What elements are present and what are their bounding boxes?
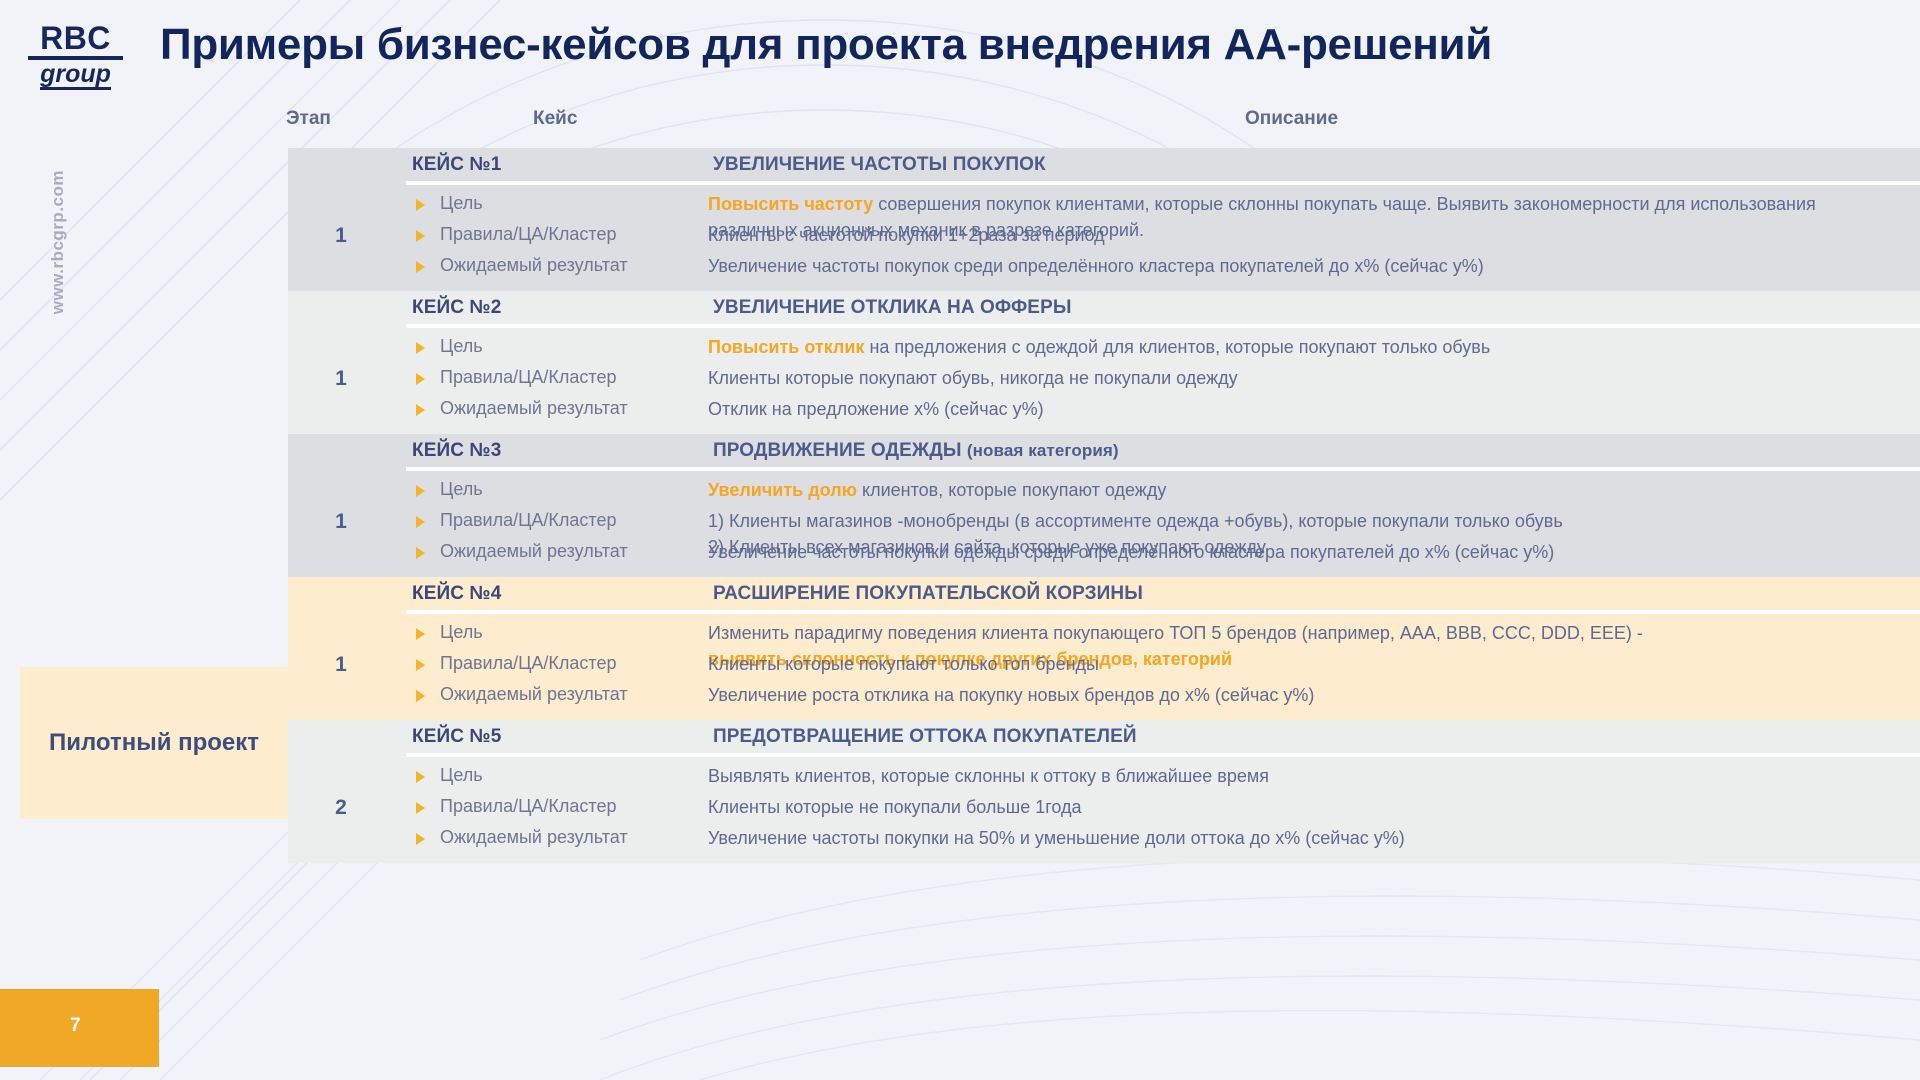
page-number-badge: 7: [0, 989, 159, 1067]
row-rules: Правила/ЦА/КластерКлиенты которые не пок…: [288, 793, 1920, 824]
case-title-row: КЕЙС №3ПРОДВИЖЕНИЕ ОДЕЖДЫ (новая категор…: [288, 434, 1920, 467]
row-result: Ожидаемый результатУвеличение частоты по…: [288, 538, 1920, 569]
bullet-arrow-icon: [416, 199, 425, 211]
bullet-arrow-icon: [416, 547, 425, 559]
case-rows: 1ЦельПовысить отклик на предложения с од…: [288, 328, 1920, 434]
case-block: КЕЙС №1УВЕЛИЧЕНИЕ ЧАСТОТЫ ПОКУПОК1ЦельПо…: [288, 148, 1920, 291]
row-text: Клиенты которые покупают только топ брен…: [708, 652, 1908, 678]
row-result: Ожидаемый результатУвеличение частоты по…: [288, 824, 1920, 855]
rbc-group-logo: RBC group: [28, 22, 123, 90]
bullet-arrow-icon: [416, 342, 425, 354]
row-text: Выявлять клиентов, которые склонны к отт…: [708, 764, 1908, 790]
row-label: Цель: [440, 193, 483, 214]
row-text: Увеличение частоты покупки одежды среди …: [708, 540, 1908, 566]
column-header-case: Кейс: [533, 108, 577, 130]
row-result: Ожидаемый результатУвеличение роста откл…: [288, 681, 1920, 712]
row-text: Клиенты с частотой покупки 1+2раза за пе…: [708, 223, 1908, 249]
case-name: УВЕЛИЧЕНИЕ ОТКЛИКА НА ОФФЕРЫ: [713, 297, 1072, 319]
case-number: КЕЙС №4: [412, 583, 501, 605]
row-label: Правила/ЦА/Кластер: [440, 510, 616, 531]
row-label: Ожидаемый результат: [440, 541, 628, 562]
row-text: Отклик на предложение x% (сейчас y%): [708, 397, 1908, 423]
row-goal: ЦельУвеличить долю клиентов, которые пок…: [288, 476, 1920, 507]
logo-group-text: group: [40, 61, 111, 90]
bullet-arrow-icon: [416, 373, 425, 385]
case-title-row: КЕЙС №1УВЕЛИЧЕНИЕ ЧАСТОТЫ ПОКУПОК: [288, 148, 1920, 181]
case-number: КЕЙС №1: [412, 154, 501, 176]
row-goal: ЦельПовысить частоту совершения покупок …: [288, 190, 1920, 221]
case-title-row: КЕЙС №2УВЕЛИЧЕНИЕ ОТКЛИКА НА ОФФЕРЫ: [288, 291, 1920, 324]
logo-rbc-text: RBC: [28, 22, 123, 60]
bullet-arrow-icon: [416, 771, 425, 783]
bullet-arrow-icon: [416, 690, 425, 702]
row-label: Ожидаемый результат: [440, 684, 628, 705]
case-rows: 1ЦельУвеличить долю клиентов, которые по…: [288, 471, 1920, 577]
case-block: КЕЙС №3ПРОДВИЖЕНИЕ ОДЕЖДЫ (новая категор…: [288, 434, 1920, 577]
row-text: Клиенты которые не покупали больше 1года: [708, 795, 1908, 821]
row-text: Клиенты которые покупают обувь, никогда …: [708, 366, 1908, 392]
case-title-row: КЕЙС №4РАСШИРЕНИЕ ПОКУПАТЕЛЬСКОЙ КОРЗИНЫ: [288, 577, 1920, 610]
row-label: Цель: [440, 336, 483, 357]
row-label: Ожидаемый результат: [440, 255, 628, 276]
row-goal: ЦельВыявлять клиентов, которые склонны к…: [288, 762, 1920, 793]
row-label: Правила/ЦА/Кластер: [440, 367, 616, 388]
pilot-project-label: Пилотный проект: [49, 729, 259, 757]
case-name-subtitle: (новая категория): [967, 441, 1119, 460]
pilot-project-banner: Пилотный проект: [20, 667, 288, 819]
row-rules: Правила/ЦА/КластерКлиенты которые покупа…: [288, 650, 1920, 681]
bullet-arrow-icon: [416, 833, 425, 845]
bullet-arrow-icon: [416, 516, 425, 528]
case-rows: 1ЦельИзменить парадигму поведения клиент…: [288, 614, 1920, 720]
row-text: Увеличение частоты покупок среди определ…: [708, 254, 1908, 280]
row-label: Цель: [440, 622, 483, 643]
row-result: Ожидаемый результатОтклик на предложение…: [288, 395, 1920, 426]
case-name: ПРЕДОТВРАЩЕНИЕ ОТТОКА ПОКУПАТЕЛЕЙ: [713, 726, 1137, 748]
row-text: Повысить отклик на предложения с одеждой…: [708, 335, 1908, 361]
row-result: Ожидаемый результатУвеличение частоты по…: [288, 252, 1920, 283]
row-label: Правила/ЦА/Кластер: [440, 796, 616, 817]
bullet-arrow-icon: [416, 802, 425, 814]
case-block: КЕЙС №5ПРЕДОТВРАЩЕНИЕ ОТТОКА ПОКУПАТЕЛЕЙ…: [288, 720, 1920, 863]
row-rules: Правила/ЦА/Кластер1) Клиенты магазинов -…: [288, 507, 1920, 538]
bullet-arrow-icon: [416, 659, 425, 671]
row-label: Ожидаемый результат: [440, 827, 628, 848]
case-name: ПРОДВИЖЕНИЕ ОДЕЖДЫ (новая категория): [713, 440, 1119, 462]
bullet-arrow-icon: [416, 261, 425, 273]
page-number: 7: [70, 1015, 81, 1037]
slide-root: RBC group Примеры бизнес-кейсов для прое…: [0, 0, 1920, 1080]
case-block: КЕЙС №4РАСШИРЕНИЕ ПОКУПАТЕЛЬСКОЙ КОРЗИНЫ…: [288, 577, 1920, 720]
case-rows: 1ЦельПовысить частоту совершения покупок…: [288, 185, 1920, 291]
case-block: КЕЙС №2УВЕЛИЧЕНИЕ ОТКЛИКА НА ОФФЕРЫ1Цель…: [288, 291, 1920, 434]
case-name: УВЕЛИЧЕНИЕ ЧАСТОТЫ ПОКУПОК: [713, 154, 1046, 176]
bullet-arrow-icon: [416, 404, 425, 416]
bullet-arrow-icon: [416, 230, 425, 242]
row-label: Правила/ЦА/Кластер: [440, 224, 616, 245]
bullet-arrow-icon: [416, 628, 425, 640]
row-rules: Правила/ЦА/КластерКлиенты с частотой пок…: [288, 221, 1920, 252]
row-goal: ЦельПовысить отклик на предложения с оде…: [288, 333, 1920, 364]
column-header-stage: Этап: [286, 108, 331, 130]
goal-highlight: Повысить отклик: [708, 337, 864, 357]
bullet-arrow-icon: [416, 485, 425, 497]
case-number: КЕЙС №2: [412, 297, 501, 319]
row-label: Ожидаемый результат: [440, 398, 628, 419]
row-rules: Правила/ЦА/КластерКлиенты которые покупа…: [288, 364, 1920, 395]
goal-highlight: Увеличить долю: [708, 480, 857, 500]
case-title-row: КЕЙС №5ПРЕДОТВРАЩЕНИЕ ОТТОКА ПОКУПАТЕЛЕЙ: [288, 720, 1920, 753]
case-rows: 2ЦельВыявлять клиентов, которые склонны …: [288, 757, 1920, 863]
row-text: Увеличить долю клиентов, которые покупаю…: [708, 478, 1908, 504]
logo-group-wrap: group: [28, 60, 123, 90]
case-name: РАСШИРЕНИЕ ПОКУПАТЕЛЬСКОЙ КОРЗИНЫ: [713, 583, 1143, 605]
cases-table: КЕЙС №1УВЕЛИЧЕНИЕ ЧАСТОТЫ ПОКУПОК1ЦельПо…: [288, 148, 1920, 863]
row-label: Цель: [440, 479, 483, 500]
page-title: Примеры бизнес-кейсов для проекта внедре…: [160, 20, 1492, 70]
row-label: Цель: [440, 765, 483, 786]
table-header-row: Этап Кейс Описание: [0, 108, 1920, 138]
column-header-description: Описание: [1245, 108, 1338, 130]
row-goal: ЦельИзменить парадигму поведения клиента…: [288, 619, 1920, 650]
row-text: Увеличение частоты покупки на 50% и умен…: [708, 826, 1908, 852]
row-text: Увеличение роста отклика на покупку новы…: [708, 683, 1908, 709]
row-label: Правила/ЦА/Кластер: [440, 653, 616, 674]
case-number: КЕЙС №5: [412, 726, 501, 748]
goal-highlight: Повысить частоту: [708, 194, 873, 214]
website-url-vertical: www.rbcgrp.com: [48, 170, 68, 314]
case-number: КЕЙС №3: [412, 440, 501, 462]
